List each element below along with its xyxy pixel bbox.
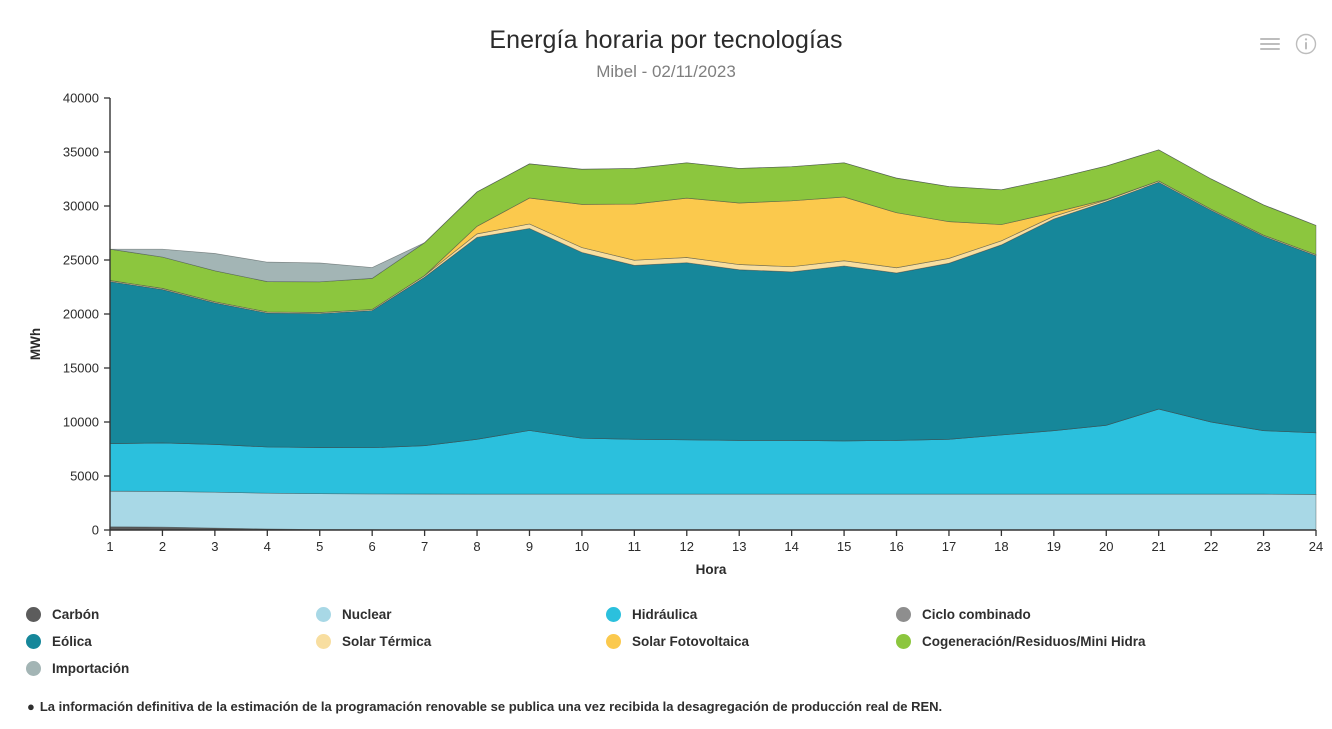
legend-color-swatch [606, 634, 621, 649]
x-tick-label: 10 [575, 539, 589, 554]
y-tick-label: 40000 [63, 92, 99, 106]
legend-item-label: Solar Fotovoltaica [632, 634, 749, 649]
legend-item[interactable]: Importación [26, 655, 316, 682]
y-tick-label: 35000 [63, 145, 99, 160]
legend-color-swatch [896, 607, 911, 622]
legend-item-label: Hidráulica [632, 607, 697, 622]
y-tick-label: 5000 [70, 469, 99, 484]
legend-color-swatch [316, 634, 331, 649]
legend-item[interactable]: Solar Térmica [316, 628, 606, 655]
x-tick-label: 3 [211, 539, 218, 554]
legend-color-swatch [606, 607, 621, 622]
legend-item-label: Nuclear [342, 607, 392, 622]
footnote: ●La información definitiva de la estimac… [27, 699, 942, 714]
page-title: Energía horaria por tecnologías [0, 26, 1332, 55]
x-tick-label: 17 [942, 539, 956, 554]
x-tick-label: 7 [421, 539, 428, 554]
x-tick-label: 6 [369, 539, 376, 554]
x-tick-label: 8 [473, 539, 480, 554]
y-tick-label: 0 [92, 523, 99, 538]
x-tick-label: 5 [316, 539, 323, 554]
area-series-nuclear [110, 491, 1316, 530]
y-tick-label: 30000 [63, 199, 99, 214]
legend-item[interactable]: Hidráulica [606, 601, 896, 628]
x-tick-label: 18 [994, 539, 1008, 554]
legend-item[interactable]: Ciclo combinado [896, 601, 1186, 628]
legend-item-label: Eólica [52, 634, 92, 649]
chart-subtitle: Mibel - 02/11/2023 [0, 62, 1332, 82]
legend-item-label: Solar Térmica [342, 634, 431, 649]
legend-color-swatch [26, 607, 41, 622]
legend-item-label: Cogeneración/Residuos/Mini Hidra [922, 634, 1146, 649]
x-tick-label: 4 [264, 539, 271, 554]
legend-item[interactable]: Solar Fotovoltaica [606, 628, 896, 655]
x-tick-label: 1 [106, 539, 113, 554]
hamburger-menu-icon[interactable] [1259, 35, 1281, 58]
x-tick-label: 9 [526, 539, 533, 554]
x-tick-label: 21 [1151, 539, 1165, 554]
x-tick-label: 20 [1099, 539, 1113, 554]
legend-item-label: Importación [52, 661, 129, 676]
legend-item-label: Ciclo combinado [922, 607, 1031, 622]
legend-item[interactable]: Eólica [26, 628, 316, 655]
footnote-bullet-icon: ● [27, 699, 35, 714]
x-tick-label: 15 [837, 539, 851, 554]
x-tick-label: 12 [680, 539, 694, 554]
legend-item[interactable]: Cogeneración/Residuos/Mini Hidra [896, 628, 1186, 655]
y-axis-title: MWh [28, 328, 43, 360]
x-tick-label: 22 [1204, 539, 1218, 554]
legend-item[interactable]: Carbón [26, 601, 316, 628]
y-tick-label: 10000 [63, 415, 99, 430]
footnote-text: La información definitiva de la estimaci… [40, 699, 942, 714]
legend-color-swatch [316, 607, 331, 622]
x-axis-tick-labels: 123456789101112131415161718192021222324 [106, 539, 1323, 554]
x-tick-label: 13 [732, 539, 746, 554]
y-tick-label: 15000 [63, 361, 99, 376]
chart-header: Energía horaria por tecnologías Mibel - … [0, 0, 1332, 92]
info-circle-icon[interactable] [1295, 33, 1317, 60]
x-tick-label: 2 [159, 539, 166, 554]
x-tick-label: 11 [628, 539, 642, 554]
y-tick-label: 20000 [63, 307, 99, 322]
x-axis-title: Hora [696, 562, 727, 577]
x-tick-label: 23 [1256, 539, 1270, 554]
chart-plot-svg: 0500010000150002000025000300003500040000… [0, 92, 1332, 590]
legend-item-label: Carbón [52, 607, 99, 622]
x-tick-label: 14 [784, 539, 798, 554]
legend-color-swatch [896, 634, 911, 649]
y-axis-tick-labels: 0500010000150002000025000300003500040000 [63, 92, 99, 538]
stacked-area-chart: 0500010000150002000025000300003500040000… [0, 92, 1332, 590]
chart-legend: CarbónNuclearHidráulicaCiclo combinadoEó… [26, 601, 1316, 682]
header-actions [1259, 33, 1317, 60]
chart-series-areas [110, 150, 1316, 530]
legend-item[interactable]: Nuclear [316, 601, 606, 628]
legend-color-swatch [26, 634, 41, 649]
x-tick-label: 19 [1047, 539, 1061, 554]
y-tick-label: 25000 [63, 253, 99, 268]
legend-color-swatch [26, 661, 41, 676]
x-tick-label: 16 [889, 539, 903, 554]
x-tick-label: 24 [1309, 539, 1323, 554]
